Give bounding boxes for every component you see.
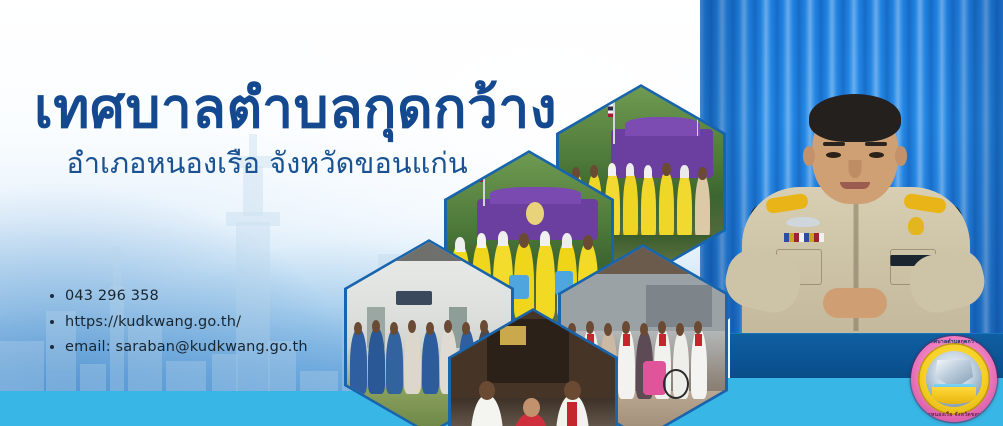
nose	[849, 160, 862, 178]
photo-collage	[344, 84, 764, 416]
municipality-banner: เทศบาลตำบลกุดกว้าง อำเภอหนองเรือ จังหวัด…	[0, 0, 1003, 426]
ear-right	[895, 146, 907, 166]
eye-left	[826, 152, 841, 158]
hair	[809, 94, 901, 142]
seal-bottom-text: อำเภอหนองเรือ จังหวัดขอนแก่น	[911, 413, 997, 418]
contact-item-phone[interactable]: 043 296 358	[50, 289, 308, 304]
ear-left	[803, 146, 815, 166]
epaulette-right-icon	[903, 193, 947, 214]
epaulette-left-icon	[765, 193, 809, 214]
official-portrait	[740, 92, 970, 342]
badge-icon	[908, 217, 924, 235]
contact-phone-text: 043 296 358	[65, 289, 159, 304]
bullet-icon	[50, 320, 54, 324]
service-ribbons-icon	[784, 233, 824, 242]
contact-website-text: https://kudkwang.go.th/	[65, 315, 241, 330]
seal-top-text: เทศบาลตำบลกุดกว้าง	[911, 340, 997, 345]
mouth	[840, 182, 870, 189]
contact-list: 043 296 358 https://kudkwang.go.th/ emai…	[50, 289, 308, 366]
hands	[823, 288, 887, 318]
eyebrow-right	[865, 142, 887, 146]
bullet-icon	[50, 294, 54, 298]
eye-right	[869, 152, 884, 158]
bullet-icon	[50, 345, 54, 349]
eyebrow-left	[823, 142, 845, 146]
contact-item-email[interactable]: email: saraban@kudkwang.go.th	[50, 340, 308, 355]
municipal-seal[interactable]: เทศบาลตำบลกุดกว้าง อำเภอหนองเรือ จังหวัด…	[911, 336, 997, 422]
seal-emblem	[926, 351, 982, 407]
wing-insignia-icon	[786, 217, 820, 227]
contact-item-website[interactable]: https://kudkwang.go.th/	[50, 315, 308, 330]
seal-bowl-icon	[932, 387, 977, 404]
contact-email-text: email: saraban@kudkwang.go.th	[65, 340, 308, 355]
